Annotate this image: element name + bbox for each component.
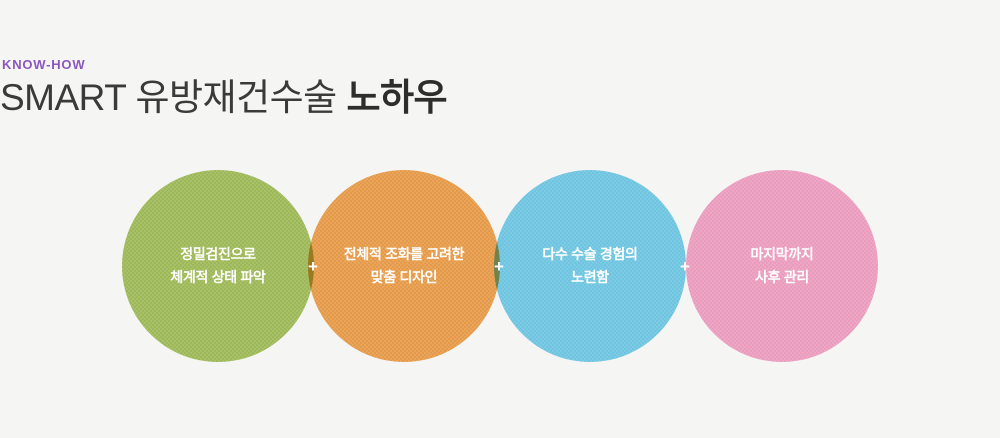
checker-texture-icon [686,170,878,362]
venn-circle-2 [308,170,500,362]
checker-texture-icon [308,170,500,362]
plus-connector-3: + [676,258,694,276]
checker-texture-icon [122,170,314,362]
plus-connector-1: + [304,258,322,276]
venn-circle-3 [494,170,686,362]
venn-diagram: 정밀검진으로 체계적 상태 파악 전체적 조화를 고려한 맞춤 디자인 다수 수… [0,0,1000,438]
plus-connector-2: + [490,258,508,276]
venn-circle-1 [122,170,314,362]
venn-circle-4 [686,170,878,362]
checker-texture-icon [494,170,686,362]
